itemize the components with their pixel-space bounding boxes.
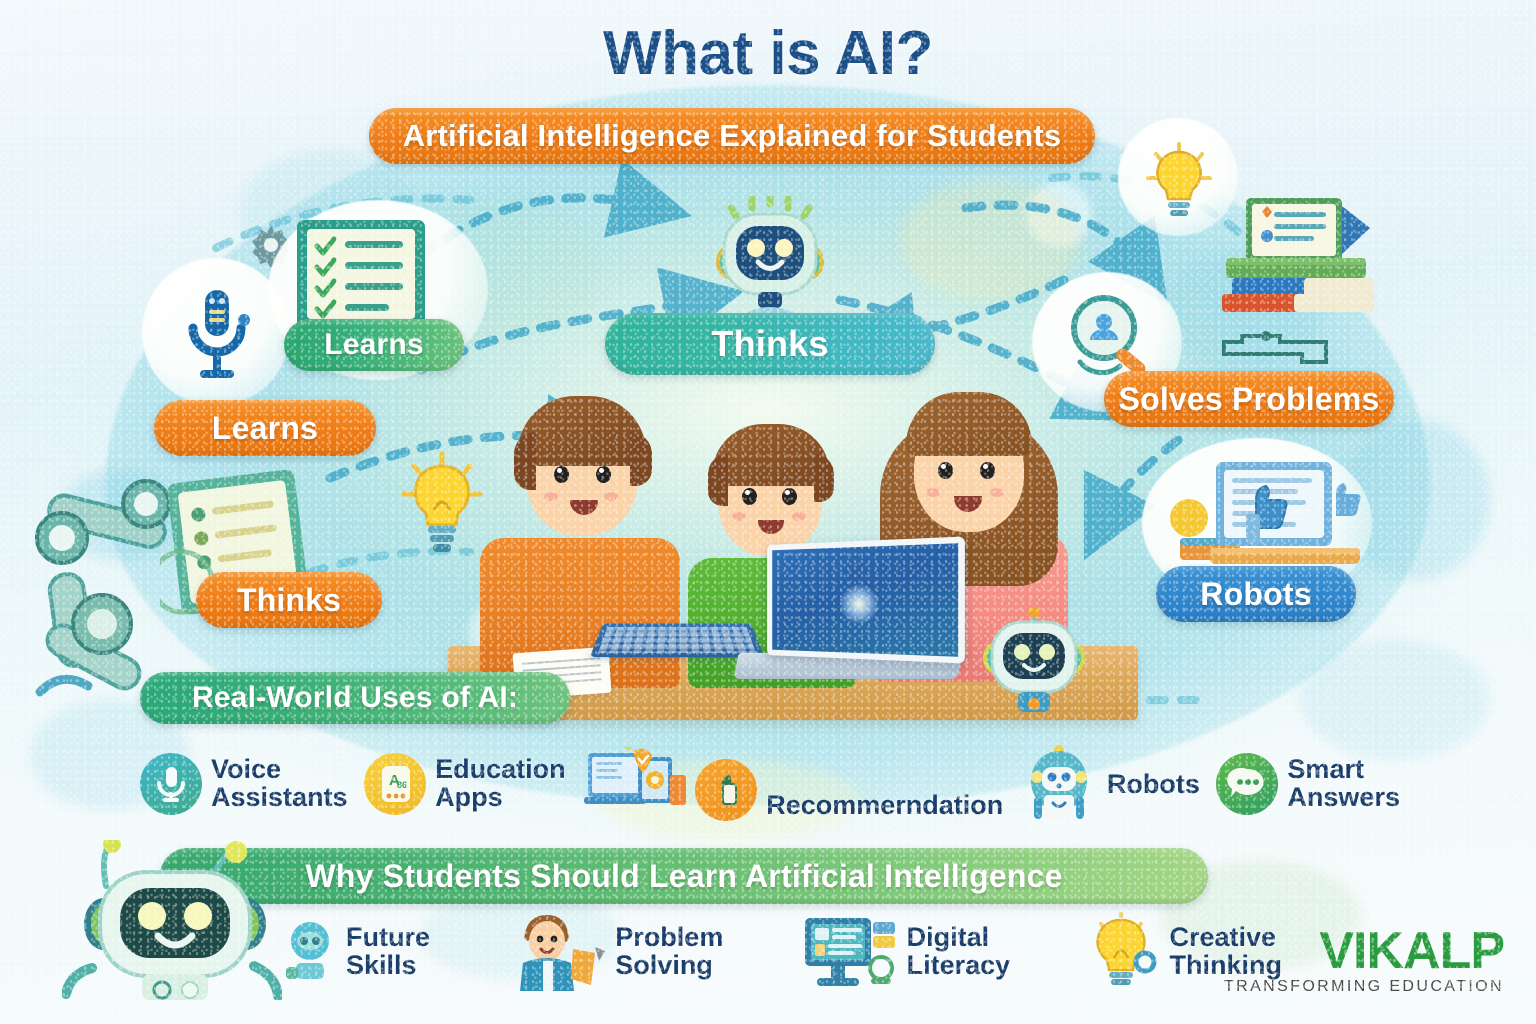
recommendation-icon [695, 759, 757, 821]
why-label-line1: Digital [907, 923, 1011, 951]
books-stack-icon [1208, 190, 1398, 320]
use-item-voice-assistants: Voice Assistants [140, 753, 348, 815]
use-label-line2: Assistants [211, 784, 348, 812]
desk-robot-icon [976, 608, 1092, 714]
why-learn-banner: Why Students Should Learn Artificial Int… [160, 848, 1208, 904]
why-item-problem-solving: Problem Solving [509, 911, 723, 991]
use-item-robots: Robots [1020, 745, 1200, 823]
pill-robots: Robots [1156, 566, 1356, 622]
use-item-education-apps: A 86 Education Apps [364, 753, 566, 815]
monitor-icon [803, 914, 899, 988]
logo-name: VIKALP [1224, 927, 1504, 976]
vikalp-logo: VIKALP TRANSFORMING EDUCATION [1224, 927, 1504, 996]
why-label-line1: Problem [615, 923, 723, 951]
use-label-line1: Voice [211, 756, 348, 784]
central-robot-icon [688, 196, 852, 326]
use-label: Smart Answers [1287, 756, 1400, 811]
why-label: Future Skills [346, 923, 430, 979]
pill-learns-orange: Learns [154, 400, 376, 456]
why-item-future-skills: Future Skills [282, 919, 430, 983]
why-label: Digital Literacy [907, 923, 1011, 979]
pill-thinks-orange: Thinks [196, 572, 382, 628]
why-label-line2: Literacy [907, 951, 1011, 979]
kid-middle-hair [712, 424, 830, 486]
chat-bubble-icon [1216, 753, 1278, 815]
bottom-left-robot-icon [62, 840, 282, 1000]
checklist-icon [293, 216, 429, 336]
why-label: Problem Solving [615, 923, 723, 979]
real-world-uses-row: Voice Assistants A 86 Education Apps [140, 738, 1400, 830]
use-item-recommendation: Recommerndation [582, 747, 1003, 821]
kid-left-hair [518, 396, 646, 466]
use-label: Robots [1107, 771, 1200, 798]
use-label-line1: Education [435, 756, 566, 784]
subtitle-banner: Artificial Intelligence Explained for St… [369, 108, 1095, 164]
real-world-banner: Real-World Uses of AI: [140, 672, 570, 724]
kid-left-eye [554, 466, 569, 483]
robot-icon [1020, 745, 1098, 823]
why-item-digital-literacy: Digital Literacy [803, 914, 1011, 988]
use-label-line2: Apps [435, 784, 566, 812]
why-learn-row: Future Skills Problem Solving [282, 906, 1282, 996]
pill-learns-green: Learns [284, 319, 464, 371]
why-label-line2: Skills [346, 951, 430, 979]
laptop-map-icon [582, 747, 686, 821]
use-label-line1: Smart [1287, 756, 1400, 784]
use-label: Recommerndation [766, 792, 1003, 819]
pill-solves-problems: Solves Problems [1104, 371, 1394, 427]
microphone-icon [140, 753, 202, 815]
ai-glow-icon [840, 584, 879, 625]
page-title: What is AI? [0, 18, 1536, 89]
student-icon [509, 911, 607, 991]
infographic-poster: What is AI? Artificial Intelligence Expl… [0, 0, 1536, 1024]
use-label: Education Apps [435, 756, 566, 811]
laptop [736, 541, 960, 679]
lightbulb-idea-icon [1146, 140, 1212, 226]
why-label-line2: Solving [615, 951, 723, 979]
robot-face-icon [282, 919, 338, 983]
svg-text:86: 86 [397, 780, 407, 790]
use-label-line1: Robots [1107, 771, 1200, 798]
kid-left-eye [596, 466, 611, 483]
use-label-line2: Answers [1287, 784, 1400, 812]
use-item-smart-answers: Smart Answers [1216, 753, 1400, 815]
use-label: Voice Assistants [211, 756, 348, 811]
microphone-icon [176, 284, 258, 384]
ruler-tool-icon [1220, 328, 1330, 370]
why-label-line1: Future [346, 923, 430, 951]
use-label-line1: Recommerndation [766, 792, 1003, 819]
laptop-screen [767, 536, 965, 663]
logo-tagline: TRANSFORMING EDUCATION [1224, 978, 1504, 996]
lightbulb-icon [1089, 912, 1161, 990]
education-app-icon: A 86 [364, 753, 426, 815]
